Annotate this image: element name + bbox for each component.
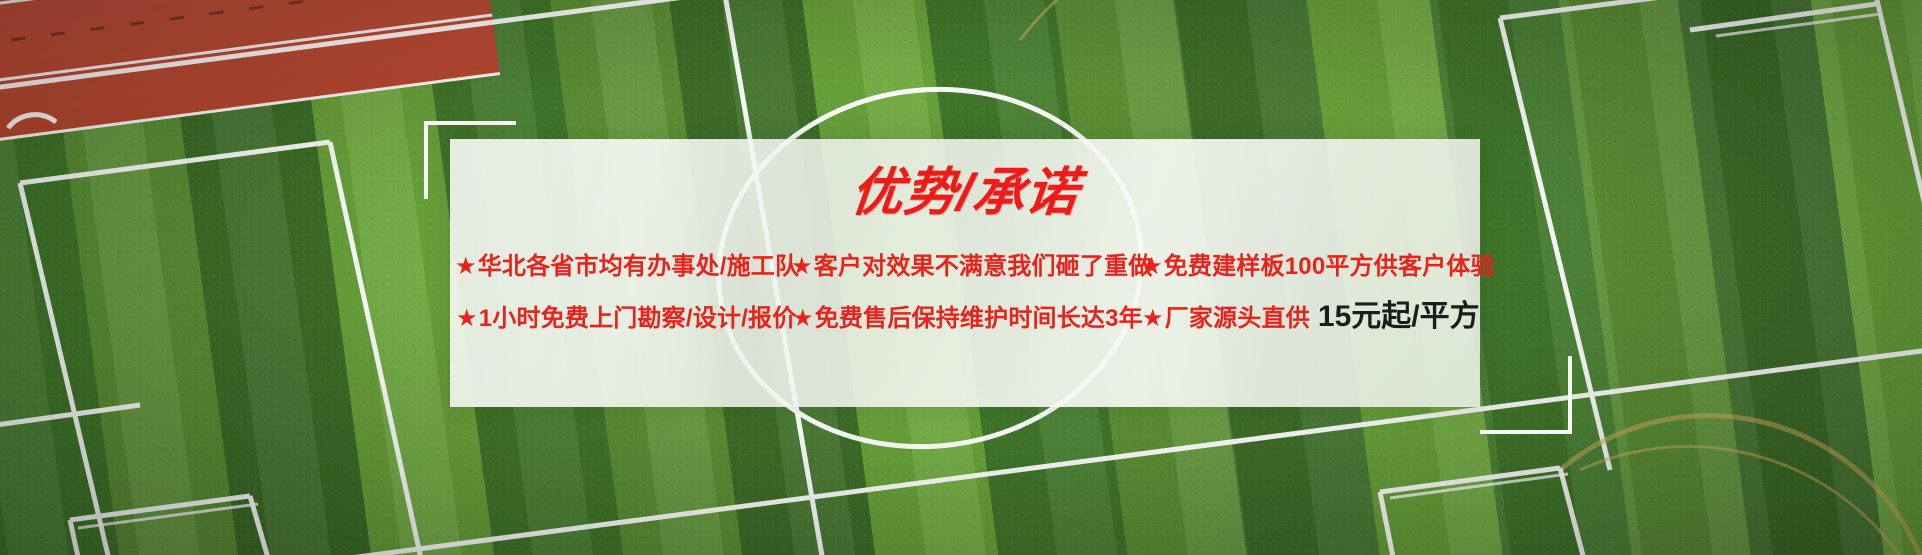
advantage-item: ★厂家源头直供15元起/平方 — [1122, 297, 1480, 338]
advantage-item: ★客户对效果不满意我们砸了重做 — [773, 251, 1121, 283]
advantages-list: ★华北各省市均有办事处/施工队 ★客户对效果不满意我们砸了重做 ★免费建样板10… — [450, 251, 1480, 352]
star-icon: ★ — [455, 253, 477, 280]
star-icon: ★ — [456, 305, 478, 332]
advantage-label: 1小时免费上门勘察/设计/报价 — [479, 305, 797, 332]
advantage-label: 华北各省市均有办事处/施工队 — [478, 253, 799, 280]
advantage-label: 免费售后保持维护时间长达3年 — [815, 305, 1143, 332]
advantage-item: ★免费售后保持维护时间长达3年 — [774, 303, 1122, 335]
advantage-label: 厂家源头直供 — [1165, 305, 1310, 332]
star-icon: ★ — [1141, 253, 1163, 280]
star-icon: ★ — [791, 253, 813, 280]
advantage-item: ★免费建样板100平方供客户体验 — [1121, 251, 1481, 283]
advantage-item: ★1小时免费上门勘察/设计/报价 — [450, 303, 774, 335]
promo-banner: 优势/承诺 ★华北各省市均有办事处/施工队 ★客户对效果不满意我们砸了重做 ★免… — [0, 0, 1922, 555]
star-icon: ★ — [1142, 305, 1164, 332]
advantages-row: ★华北各省市均有办事处/施工队 ★客户对效果不满意我们砸了重做 ★免费建样板10… — [450, 251, 1480, 283]
advantage-item: ★华北各省市均有办事处/施工队 — [449, 251, 773, 283]
advantage-label: 客户对效果不满意我们砸了重做 — [814, 253, 1153, 280]
star-icon: ★ — [792, 305, 814, 332]
content-panel: 优势/承诺 ★华北各省市均有办事处/施工队 ★客户对效果不满意我们砸了重做 ★免… — [450, 139, 1480, 407]
advantages-row: ★1小时免费上门勘察/设计/报价 ★免费售后保持维护时间长达3年 ★厂家源头直供… — [450, 297, 1480, 338]
advantage-label: 免费建样板100平方供客户体验 — [1164, 253, 1495, 280]
price-label: 15元起/平方 — [1318, 300, 1480, 333]
page-title: 优势/承诺 — [447, 167, 1482, 219]
